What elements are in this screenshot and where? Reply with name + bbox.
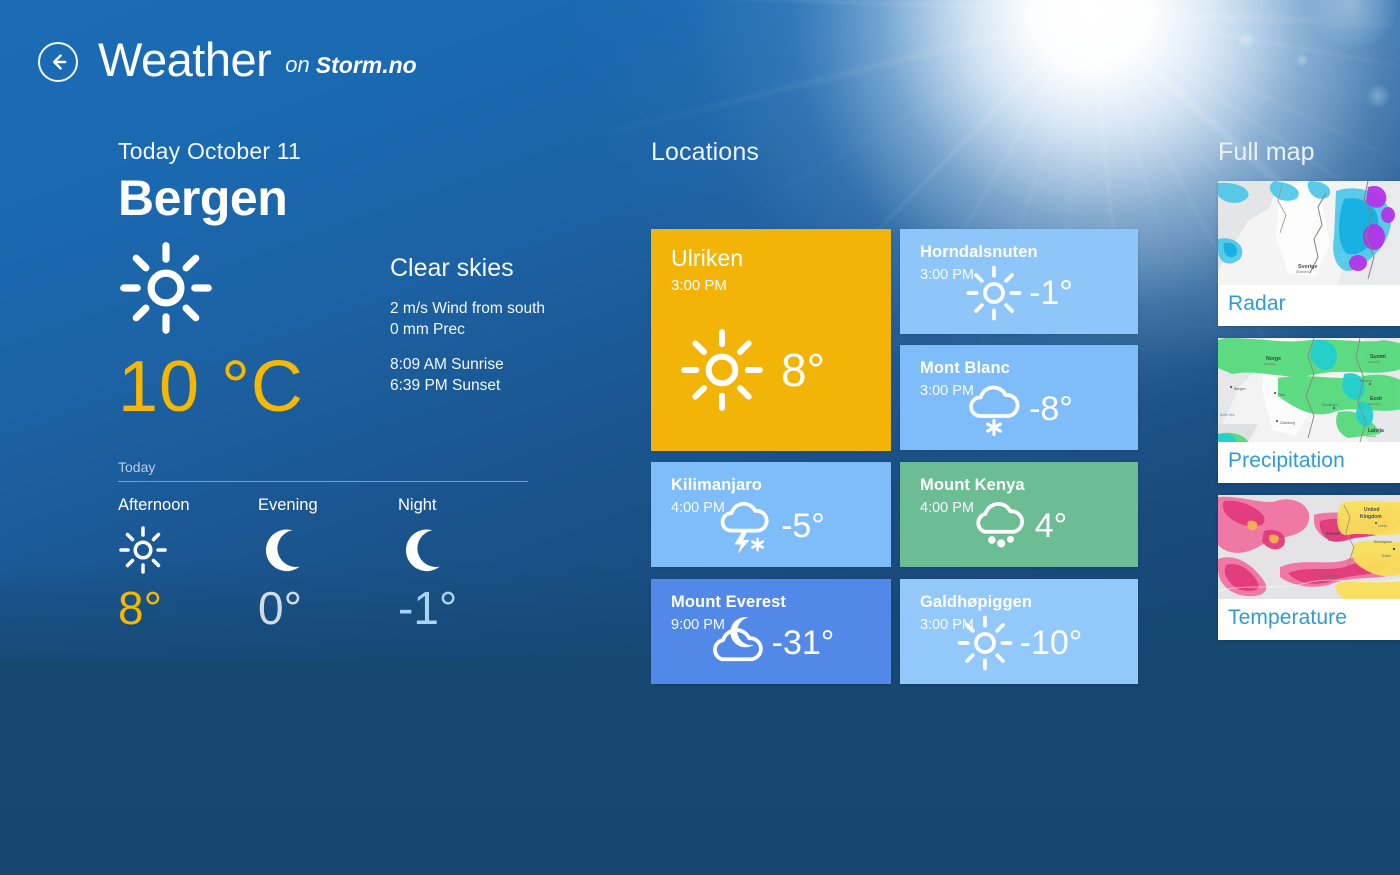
svg-text:Stockholm: Stockholm [1322,403,1338,407]
map-cards-list: Sverige (Sweden) Radar Norge (Norway) Su… [1218,181,1400,640]
day-part-label: Evening [258,496,398,515]
location-tile-body: -5° [651,484,891,567]
location-tiles-grid: Ulriken3:00 PM8°Horndalsnuten3:00 PM-1°M… [651,181,1191,681]
sun-icon [956,614,1014,672]
location-tile[interactable]: Mont Blanc3:00 PM-8° [900,345,1138,450]
location-tile-temperature: -8° [1029,392,1073,426]
sun-icon [965,264,1023,322]
thunderstorm-snow-icon [717,497,775,555]
map-card[interactable]: Sverige (Sweden) Radar [1218,181,1400,326]
location-tile-body: -8° [900,367,1138,450]
svg-text:Celtic Sea: Celtic Sea [1322,574,1338,578]
brand-name: Storm.no [316,52,417,79]
map-card-caption: Radar [1218,285,1400,326]
location-tile-name: Ulriken [671,245,743,272]
svg-text:Helsinki: Helsinki [1360,379,1372,383]
svg-text:Bristol: Bristol [1382,554,1391,558]
current-wind: 2 m/s Wind from south [390,299,545,320]
sun-icon [679,327,765,413]
day-part-label: Afternoon [118,496,258,515]
location-tile[interactable]: Horndalsnuten3:00 PM-1° [900,229,1138,334]
precipitation-map-thumbnail: Norge (Norway) Suomi (Finland) Eesti (Es… [1218,338,1400,442]
location-tile-temperature: -1° [1029,276,1073,310]
location-tile-temperature: -5° [781,509,825,543]
app-header: Weather on Storm.no [0,0,1400,118]
current-precipitation: 0 mm Prec [390,320,545,341]
weather-app-window: Weather on Storm.no Today October 11 Ber… [0,0,1400,875]
location-tile-body: 8° [651,289,891,451]
full-map-heading: Full map [1218,138,1400,167]
sun-icon [118,519,258,581]
moon-icon [398,519,538,581]
day-part-temperature: -1° [398,585,538,631]
current-condition-text: Clear skies [390,254,545,283]
day-part-label: Night [398,496,538,515]
map-card[interactable]: Norge (Norway) Suomi (Finland) Eesti (Es… [1218,338,1400,483]
svg-text:(Finland): (Finland) [1368,360,1380,364]
svg-text:Bergen: Bergen [1234,387,1246,391]
location-tile-temperature: 8° [781,347,825,393]
location-tile[interactable]: Mount Kenya4:00 PM4° [900,462,1138,567]
cloud-sleet-icon [971,497,1029,555]
today-section-label: Today [118,459,528,481]
svg-text:Leeds: Leeds [1378,524,1387,528]
svg-text:North Sea: North Sea [1220,413,1235,417]
svg-text:Oslo: Oslo [1278,393,1285,397]
svg-text:(Norway): (Norway) [1264,362,1276,366]
location-tile-body: -31° [651,601,891,684]
location-tile-temperature: -10° [1020,626,1083,660]
sunset-time: 6:39 PM Sunset [390,376,545,397]
radar-map-thumbnail: Sverige (Sweden) [1218,181,1400,285]
map-card-caption: Precipitation [1218,442,1400,483]
day-part-evening: Evening0° [258,496,398,631]
current-date-label: Today October 11 [118,138,628,165]
locations-panel: Locations Ulriken3:00 PM8°Horndalsnuten3… [651,138,1191,681]
svg-text:Kingdom: Kingdom [1360,514,1382,520]
current-conditions-panel: Today October 11 Bergen [118,138,628,631]
day-part-afternoon: Afternoon8° [118,496,258,631]
day-part-temperature: 8° [118,585,258,631]
today-section-divider: Today [118,459,528,482]
full-map-panel: Full map Sverige (Sweden) Radar [1218,138,1400,652]
svg-text:Éire: Éire [1328,537,1334,542]
svg-text:(Estonia): (Estonia) [1368,402,1380,406]
day-part-temperature: 0° [258,585,398,631]
map-card[interactable]: United Kingdom Leeds Birmingham Ireland … [1218,495,1400,640]
map-card-caption: Temperature [1218,599,1400,640]
back-arrow-icon[interactable] [38,42,78,82]
location-tile-temperature: 4° [1035,509,1068,543]
day-parts-forecast: Afternoon8°Evening0°Night-1° [118,496,538,631]
sun-icon [118,240,390,341]
location-tile-body: -10° [900,601,1138,684]
location-tile-temperature: -31° [772,626,835,660]
svg-text:Ireland: Ireland [1326,531,1340,536]
location-tile[interactable]: Kilimanjaro4:00 PM-5° [651,462,891,567]
locations-heading: Locations [651,138,1191,167]
partly-cloudy-night-icon [708,614,766,672]
svg-text:United: United [1364,507,1380,513]
current-temperature: 10 °C [118,351,390,423]
moon-icon [258,519,398,581]
svg-text:Göteborg: Göteborg [1280,421,1295,425]
svg-text:(Latvia): (Latvia) [1366,434,1376,438]
temperature-map-thumbnail: United Kingdom Leeds Birmingham Ireland … [1218,495,1400,599]
location-tile-body: 4° [900,484,1138,567]
day-part-night: Night-1° [398,496,538,631]
location-tile[interactable]: Ulriken3:00 PM8° [651,229,891,451]
page-title: Weather [98,36,271,83]
title-preposition: on [285,52,309,78]
sunrise-time: 8:09 AM Sunrise [390,355,545,376]
svg-text:Birmingham: Birmingham [1374,540,1392,544]
svg-text:(Sweden): (Sweden) [1296,270,1310,274]
location-tile[interactable]: Mount Everest9:00 PM-31° [651,579,891,684]
location-tile-body: -1° [900,251,1138,334]
cloud-snow-icon [965,380,1023,438]
location-tile[interactable]: Galdhøpiggen3:00 PM-10° [900,579,1138,684]
current-city-name: Bergen [118,171,628,226]
